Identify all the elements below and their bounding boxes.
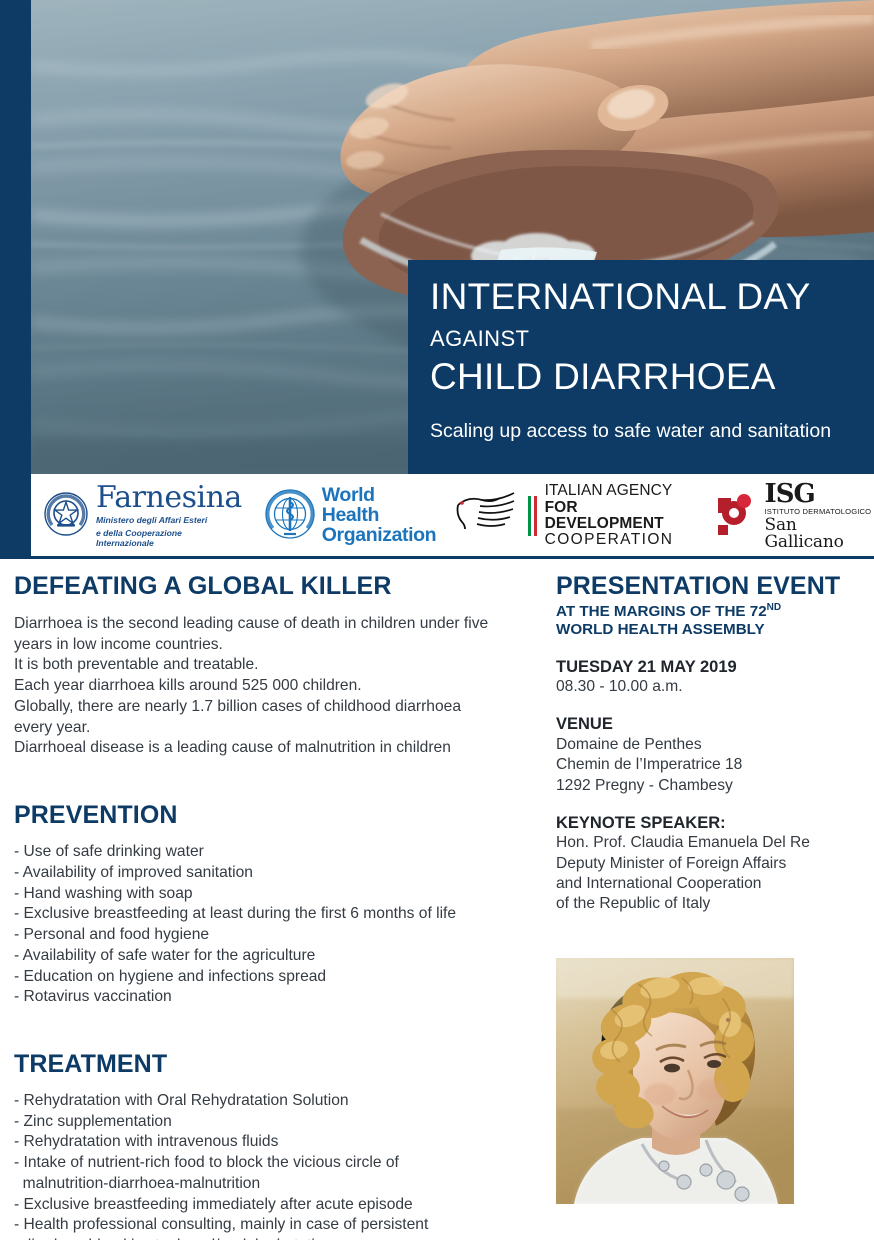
list-item: - Education on hygiene and infections sp… [14, 967, 544, 988]
poster-page: INTERNATIONAL DAY AGAINST CHILD DIARRHOE… [0, 0, 874, 1240]
venue-line2: Chemin de l’Imperatrice 18 [556, 755, 866, 775]
logo-who-name-line1: World Health [322, 484, 379, 526]
list-item: - Availability of improved sanitation [14, 863, 544, 884]
spacer-prevention [14, 759, 544, 801]
event-datetime-block: TUESDAY 21 MAY 2019 08.30 - 10.00 a.m. [556, 657, 866, 698]
hero-title-block: INTERNATIONAL DAY AGAINST CHILD DIARRHOE… [408, 260, 874, 474]
logo-isg-text: ISG ISTITUTO DERMATOLOGICO San Gallicano [765, 481, 874, 551]
list-item: - Zinc supplementation [14, 1112, 544, 1133]
list-item: - Personal and food hygiene [14, 925, 544, 946]
aics-dove-emblem-icon [452, 489, 524, 544]
logo-aics-text: ITALIAN AGENCY FOR DEVELOPMENT COOPERATI… [545, 483, 692, 549]
keynote-speaker-label: KEYNOTE SPEAKER: [556, 813, 866, 834]
hero-banner: INTERNATIONAL DAY AGAINST CHILD DIARRHOE… [0, 0, 874, 558]
who-rod-of-asclepius-emblem-icon [264, 488, 316, 545]
list-item: - Availability of safe water for the agr… [14, 946, 544, 967]
logo-farnesina-sub1: Ministero degli Affari Esteri [96, 515, 242, 526]
venue-block: VENUE Domaine de Penthes Chemin de l’Imp… [556, 714, 866, 795]
spacer-treatment [14, 1008, 544, 1050]
keynote-speaker-block: KEYNOTE SPEAKER: Hon. Prof. Claudia Eman… [556, 813, 866, 915]
hero-title-line3: CHILD DIARRHOEA [430, 356, 864, 398]
hero-title-line1: INTERNATIONAL DAY [430, 278, 864, 316]
italian-republic-emblem-icon [43, 491, 89, 542]
logo-farnesina-name: Farnesina [96, 480, 242, 515]
logo-isg-line3: San Gallicano [765, 517, 874, 551]
event-subtitle-ordinal: ND [767, 602, 781, 613]
keynote-speaker-name: Hon. Prof. Claudia Emanuela Del Re [556, 833, 866, 853]
hero-left-accent-bar [0, 0, 31, 558]
logo-aics-line1: ITALIAN AGENCY [545, 483, 692, 499]
presentation-event-title: PRESENTATION EVENT [556, 572, 866, 601]
logo-aics-line2: FOR DEVELOPMENT [545, 500, 692, 533]
logo-who-name-line2: Organization [322, 526, 436, 546]
sponsor-logo-strip: Farnesina Ministero degli Affari Esteri … [31, 474, 874, 558]
list-item: - Hand washing with soap [14, 884, 544, 905]
intro-paragraph: Diarrhoea is the second leading cause of… [14, 614, 544, 759]
hero-title-line2: AGAINST [430, 326, 864, 352]
logo-italian-agency-for-development-cooperation: ITALIAN AGENCY FOR DEVELOPMENT COOPERATI… [436, 474, 691, 558]
event-subtitle-line1: AT THE MARGINS OF THE 72 [556, 603, 767, 620]
list-item: - Rotavirus vaccination [14, 987, 544, 1008]
keynote-speaker-role-line3: of the Republic of Italy [556, 894, 866, 914]
hero-tagline: Scaling up access to safe water and sani… [430, 420, 864, 443]
venue-line1: Domaine de Penthes [556, 735, 866, 755]
list-item: - Rehydratation with intravenous fluids [14, 1132, 544, 1153]
list-item: - Rehydratation with Oral Rehydratation … [14, 1091, 544, 1112]
logo-who-text: World Health Organization [322, 486, 436, 546]
header-divider-rule [0, 556, 874, 559]
list-item: - Intake of nutrient-rich food to block … [14, 1153, 544, 1194]
venue-label: VENUE [556, 714, 866, 735]
logo-farnesina-text: Farnesina Ministero degli Affari Esteri … [96, 483, 242, 549]
event-subtitle-line2: WORLD HEALTH ASSEMBLY [556, 621, 765, 638]
isg-mark-icon [710, 490, 758, 543]
presentation-event-subtitle: AT THE MARGINS OF THE 72ND WORLD HEALTH … [556, 602, 866, 640]
list-item: - Exclusive breastfeeding at least durin… [14, 904, 544, 925]
list-item: - Exclusive breastfeeding immediately af… [14, 1195, 544, 1216]
list-item: - Health professional consulting, mainly… [14, 1215, 544, 1240]
logo-world-health-organization: World Health Organization [242, 474, 436, 558]
keynote-speaker-role-line1: Deputy Minister of Foreign Affairs [556, 854, 866, 874]
logo-farnesina-sub2: e della Cooperazione Internazionale [96, 528, 242, 549]
venue-line3: 1292 Pregny - Chambesy [556, 776, 866, 796]
section-heading-treatment: TREATMENT [14, 1050, 544, 1079]
prevention-list: - Use of safe drinking water - Availabil… [14, 842, 544, 1008]
left-column: DEFEATING A GLOBAL KILLER Diarrhoea is t… [14, 572, 544, 1240]
logo-aics-line3: COOPERATION [545, 532, 692, 548]
logo-farnesina: Farnesina Ministero degli Affari Esteri … [31, 474, 242, 558]
keynote-speaker-portrait [556, 958, 794, 1204]
section-heading-defeating-a-global-killer: DEFEATING A GLOBAL KILLER [14, 572, 544, 601]
keynote-speaker-role-line2: and International Cooperation [556, 874, 866, 894]
event-date: TUESDAY 21 MAY 2019 [556, 657, 866, 678]
list-item: - Use of safe drinking water [14, 842, 544, 863]
treatment-list: - Rehydratation with Oral Rehydratation … [14, 1091, 544, 1240]
event-time: 08.30 - 10.00 a.m. [556, 677, 866, 697]
logo-isg-line1: ISG [765, 481, 874, 507]
italian-flag-bar-icon [528, 496, 536, 536]
logo-isg-san-gallicano: ISG ISTITUTO DERMATOLOGICO San Gallicano [692, 474, 874, 558]
right-column: PRESENTATION EVENT AT THE MARGINS OF THE… [556, 572, 866, 915]
section-heading-prevention: PREVENTION [14, 801, 544, 830]
